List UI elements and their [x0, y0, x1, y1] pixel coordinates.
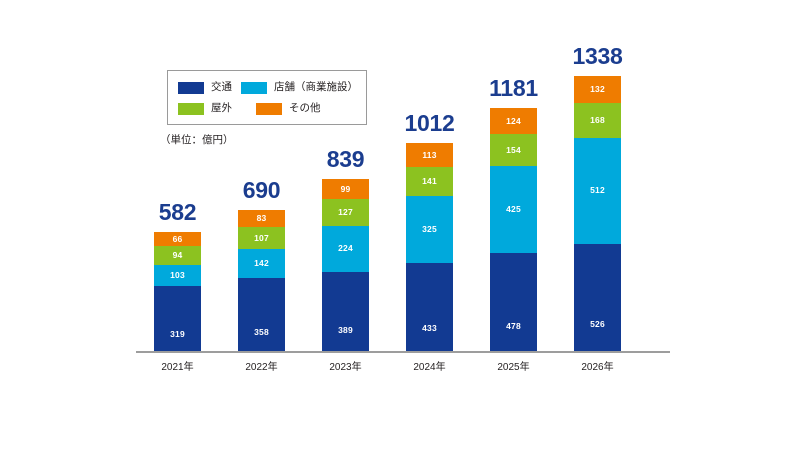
bar-stack: 113141325433	[406, 143, 453, 352]
x-axis-tick-label: 2023年	[300, 363, 391, 373]
bar-segment[interactable]: 94	[154, 246, 201, 265]
x-axis-tick-label: 2024年	[384, 363, 475, 373]
bar-segment[interactable]: 124	[490, 108, 537, 134]
bar-segment[interactable]: 319	[154, 286, 201, 352]
bar-segment-value: 224	[338, 244, 353, 253]
bar-segment[interactable]: 168	[574, 103, 621, 138]
bar-stack: 99127224389	[322, 179, 369, 352]
bar-segment-value: 389	[338, 326, 353, 335]
bar-segment[interactable]: 526	[574, 244, 621, 353]
bar-segment-value: 325	[422, 225, 437, 234]
bar-segment[interactable]: 425	[490, 166, 537, 254]
bar-segment[interactable]: 141	[406, 167, 453, 196]
bar-segment[interactable]: 142	[238, 249, 285, 278]
bar-stack: 83107142358	[238, 210, 285, 352]
bar-segment[interactable]: 325	[406, 196, 453, 263]
bar-segment-value: 512	[590, 186, 605, 195]
x-axis-line	[136, 351, 670, 353]
bar-segment-value: 526	[590, 320, 605, 329]
bar-segment[interactable]: 224	[322, 226, 369, 272]
bar-segment-value: 113	[422, 151, 436, 160]
x-axis-tick-label: 2022年	[216, 363, 307, 373]
bar-segment[interactable]: 103	[154, 265, 201, 286]
bar-segment-value: 425	[506, 205, 521, 214]
bar-segment-value: 107	[254, 234, 269, 243]
bar-segment[interactable]: 99	[322, 179, 369, 199]
bar-segment-value: 127	[338, 208, 353, 217]
bar-segment[interactable]: 113	[406, 143, 453, 166]
bar-segment-value: 94	[173, 251, 183, 260]
bar-segment-value: 168	[590, 116, 605, 125]
stacked-bar-chart: 交通 店舗（商業施設） 屋外 その他 （単位：億円） 6694103319582…	[0, 0, 800, 450]
bar-segment-value: 433	[422, 324, 437, 333]
bar-total-label: 1012	[384, 112, 475, 135]
bar-segment[interactable]: 512	[574, 138, 621, 244]
bar-segment-value: 154	[506, 146, 521, 155]
bar-segment-value: 99	[341, 185, 351, 194]
bar-stack: 124154425478	[490, 108, 537, 352]
plot-area: 66941033195822021年831071423586902022年991…	[136, 60, 670, 352]
bar-stack: 6694103319	[154, 232, 201, 352]
bar-segment[interactable]: 127	[322, 199, 369, 225]
x-axis-tick-label: 2021年	[132, 363, 223, 373]
bar-segment[interactable]: 433	[406, 263, 453, 352]
bar-segment-value: 83	[257, 214, 267, 223]
bar-segment-value: 142	[254, 259, 269, 268]
bar-segment-value: 66	[173, 235, 183, 244]
bar-segment[interactable]: 358	[238, 278, 285, 352]
bar-segment[interactable]: 154	[490, 134, 537, 166]
bar-segment-value: 124	[506, 117, 521, 126]
bar-segment[interactable]: 83	[238, 210, 285, 227]
bar-segment[interactable]: 132	[574, 76, 621, 103]
bar-total-label: 690	[216, 179, 307, 202]
bar-segment-value: 478	[506, 322, 521, 331]
x-axis-tick-label: 2026年	[552, 363, 643, 373]
x-axis-tick-label: 2025年	[468, 363, 559, 373]
bar-total-label: 582	[132, 201, 223, 224]
bar-segment[interactable]: 478	[490, 253, 537, 352]
bar-total-label: 839	[300, 148, 391, 171]
bar-total-label: 1338	[552, 45, 643, 68]
bar-segment[interactable]: 389	[322, 272, 369, 352]
bar-total-label: 1181	[468, 77, 559, 100]
bar-segment[interactable]: 66	[154, 232, 201, 246]
bar-segment-value: 132	[590, 85, 605, 94]
bar-segment-value: 358	[254, 328, 269, 337]
bar-segment-value: 319	[170, 330, 185, 339]
bar-segment-value: 103	[170, 271, 185, 280]
bar-segment[interactable]: 107	[238, 227, 285, 249]
bar-segment-value: 141	[422, 177, 437, 186]
bar-stack: 132168512526	[574, 76, 621, 352]
